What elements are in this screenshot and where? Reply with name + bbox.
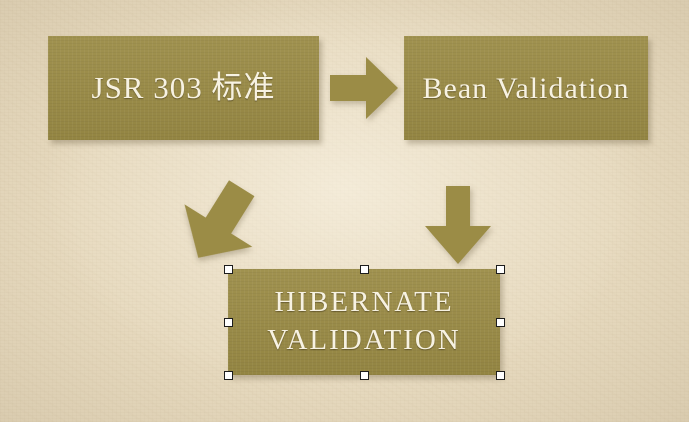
node-hibernate-validation[interactable]: HIBERNATE VALIDATION xyxy=(228,269,500,375)
selection-handle-bottom-left[interactable] xyxy=(224,371,233,380)
selection-handle-top-center[interactable] xyxy=(360,265,369,274)
selection-handle-bottom-center[interactable] xyxy=(360,371,369,380)
node-bean-validation-label: Bean Validation xyxy=(423,69,630,108)
selection-handle-bottom-right[interactable] xyxy=(496,371,505,380)
selection-handle-top-left[interactable] xyxy=(224,265,233,274)
node-hibernate-validation-line1: HIBERNATE xyxy=(267,284,460,322)
selection-handle-top-right[interactable] xyxy=(496,265,505,274)
node-hibernate-validation-line2: VALIDATION xyxy=(267,322,460,360)
arrow-down-right-icon[interactable] xyxy=(164,167,275,279)
node-jsr-303[interactable]: JSR 303 标准 xyxy=(48,36,319,140)
slide-canvas: JSR 303 标准 Bean Validation HIBERNATE VAL… xyxy=(0,0,689,422)
selection-handle-middle-right[interactable] xyxy=(496,318,505,327)
arrow-down-icon[interactable] xyxy=(425,186,491,264)
selection-handle-middle-left[interactable] xyxy=(224,318,233,327)
arrow-right-icon[interactable] xyxy=(330,57,398,119)
node-bean-validation[interactable]: Bean Validation xyxy=(404,36,648,140)
node-jsr-303-label: JSR 303 标准 xyxy=(92,68,276,108)
node-hibernate-validation-text: HIBERNATE VALIDATION xyxy=(267,284,460,359)
